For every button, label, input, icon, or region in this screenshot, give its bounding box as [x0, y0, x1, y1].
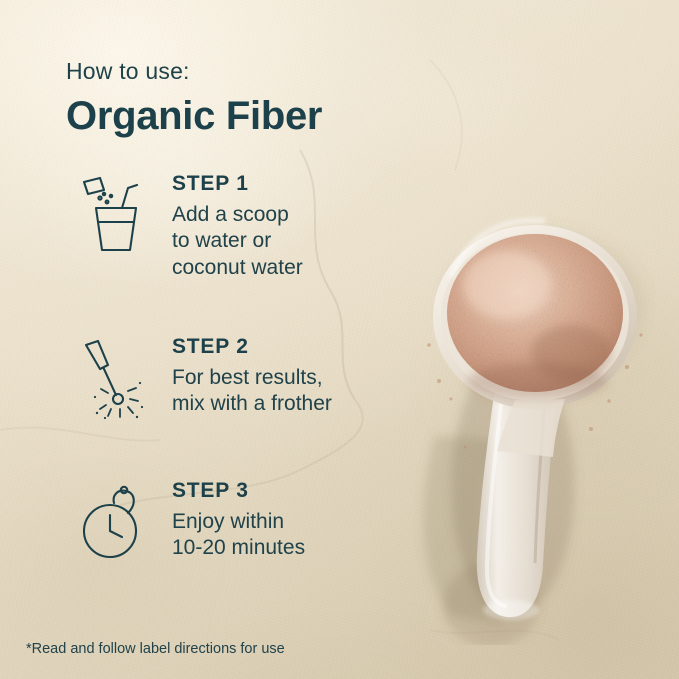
step-2-icon-slot [60, 333, 172, 419]
milk-frother-icon [78, 339, 154, 419]
step-1-icon-slot [60, 170, 172, 256]
step-3-text: Enjoy within 10-20 minutes [172, 509, 420, 562]
step-item-2: STEP 2 For best results, mix with a frot… [60, 333, 420, 419]
step-2-line-2: mix with a frother [172, 392, 332, 415]
kicker-text: How to use: [66, 58, 426, 85]
step-2-body: STEP 2 For best results, mix with a frot… [172, 333, 420, 418]
glass-with-straw-icon [78, 176, 154, 256]
step-1-body: STEP 1 Add a scoop to water or coconut w… [172, 170, 420, 281]
step-3-body: STEP 3 Enjoy within 10-20 minutes [172, 477, 420, 562]
step-1-line-3: coconut water [172, 256, 303, 279]
how-to-use-infographic: How to use: Organic Fiber [0, 0, 679, 679]
step-3-line-1: Enjoy within [172, 510, 284, 533]
footnote-text: *Read and follow label directions for us… [26, 641, 285, 657]
step-item-3: STEP 3 Enjoy within 10-20 minutes [60, 477, 420, 563]
step-3-icon-slot [60, 477, 172, 563]
step-1-line-2: to water or [172, 229, 271, 252]
step-item-1: STEP 1 Add a scoop to water or coconut w… [60, 170, 420, 281]
step-3-label: STEP 3 [172, 479, 420, 503]
step-3-line-2: 10-20 minutes [172, 536, 305, 559]
step-1-text: Add a scoop to water or coconut water [172, 202, 420, 281]
step-2-label: STEP 2 [172, 335, 420, 359]
step-1-line-1: Add a scoop [172, 203, 289, 226]
headline-block: How to use: Organic Fiber [66, 58, 426, 137]
step-1-label: STEP 1 [172, 172, 420, 196]
step-2-text: For best results, mix with a frother [172, 365, 420, 418]
steps-list: STEP 1 Add a scoop to water or coconut w… [60, 170, 420, 591]
step-2-line-1: For best results, [172, 366, 323, 389]
stopwatch-icon [78, 483, 154, 563]
page-title: Organic Fiber [66, 95, 426, 137]
